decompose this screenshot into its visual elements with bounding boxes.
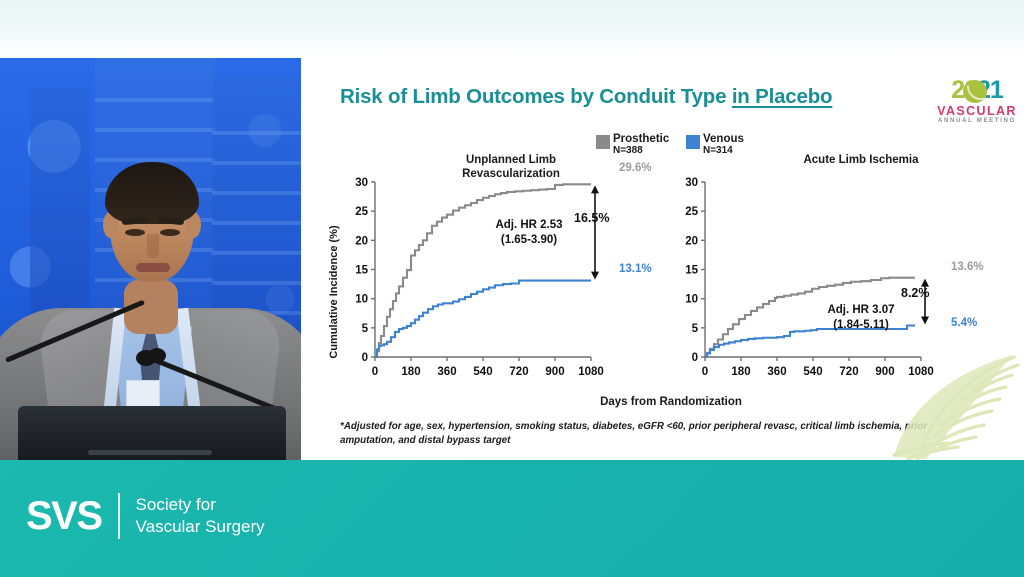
svg-text:180: 180 [401, 366, 420, 378]
km-chart-unplanned-limb-revascularization: 05101520253001803605407209001080 [343, 176, 605, 391]
slide-title: Risk of Limb Outcomes by Conduit Type in… [340, 85, 930, 109]
svg-text:0: 0 [702, 366, 708, 378]
x-axis-label: Days from Randomization [541, 396, 801, 408]
top-background-band [0, 0, 1024, 58]
svg-text:0: 0 [372, 366, 378, 378]
svg-text:540: 540 [803, 366, 822, 378]
svg-text:720: 720 [509, 366, 528, 378]
microphone-head-right [148, 348, 166, 363]
slide-footnote: *Adjusted for age, sex, hypertension, sm… [340, 420, 940, 448]
km-curve-prosthetic [375, 184, 591, 357]
speaker-nose [147, 234, 159, 258]
svs-society-name: Society for Vascular Surgery [136, 494, 265, 538]
km-plot-svg: 05101520253001803605407209001080 [673, 176, 935, 391]
slide-title-main: Risk of Limb Outcomes by Conduit Type [340, 85, 732, 108]
svg-text:15: 15 [355, 265, 368, 277]
legend-swatch-venous [686, 135, 700, 149]
hr-value-left: Adj. HR 2.53 [469, 218, 589, 233]
svg-text:540: 540 [473, 366, 492, 378]
speaker-eye-left [125, 229, 145, 236]
svg-text:360: 360 [437, 366, 456, 378]
hr-ci-right: (1.84-5.11) [801, 318, 921, 333]
svs-wordmark: SVS [26, 496, 102, 536]
svg-text:720: 720 [839, 366, 858, 378]
difference-label-right: 8.2% [901, 286, 930, 300]
speaker-video-panel[interactable] [0, 58, 301, 460]
svs-society-line2: Vascular Surgery [136, 517, 265, 536]
svg-text:900: 900 [545, 366, 564, 378]
km-curve-venous [375, 281, 591, 357]
svg-text:0: 0 [692, 352, 698, 364]
legend-n-prosthetic: N=388 [613, 145, 643, 156]
vam-logo-annual-meeting: ANNUAL MEETING [931, 118, 1023, 124]
endpoint-label-right-venous: 5.4% [951, 317, 977, 329]
speaker-figure [0, 58, 301, 460]
speaker-hair [105, 162, 199, 224]
presentation-slide: Risk of Limb Outcomes by Conduit Type in… [301, 58, 1024, 460]
podium-monitor-stand [88, 450, 212, 455]
difference-label-left: 16.5% [574, 211, 609, 225]
endpoint-label-left-venous: 13.1% [619, 263, 652, 275]
svg-text:1080: 1080 [578, 366, 604, 378]
svg-text:180: 180 [731, 366, 750, 378]
chart-title-right: Acute Limb Ischemia [771, 153, 951, 167]
svg-text:10: 10 [685, 294, 698, 306]
endpoint-label-left-prosthetic: 29.6% [619, 162, 652, 174]
km-chart-acute-limb-ischemia: 05101520253001803605407209001080 [673, 176, 935, 391]
svg-text:25: 25 [355, 206, 368, 218]
vam-logo-vascular: VASCULAR [931, 104, 1023, 118]
slide-title-emphasis: in Placebo [732, 85, 833, 108]
endpoint-label-right-prosthetic: 13.6% [951, 261, 984, 273]
svg-text:30: 30 [685, 177, 698, 189]
svs-logo-divider [118, 493, 120, 539]
svg-text:5: 5 [692, 323, 699, 335]
svs-society-line1: Society for [136, 495, 216, 514]
svg-text:10: 10 [355, 294, 368, 306]
km-plot-svg: 05101520253001803605407209001080 [343, 176, 605, 391]
leaf-icon [963, 80, 987, 103]
legend-n-venous: N=314 [703, 145, 733, 156]
svg-text:900: 900 [875, 366, 894, 378]
svs-logo: SVS Society for Vascular Surgery [26, 493, 265, 539]
svs-footer-bar: SVS Society for Vascular Surgery [0, 460, 1024, 577]
svg-text:20: 20 [685, 235, 698, 247]
hr-ci-left: (1.65-3.90) [469, 233, 589, 248]
slide-stage: Risk of Limb Outcomes by Conduit Type in… [0, 0, 1024, 577]
svg-text:360: 360 [767, 366, 786, 378]
y-axis-label: Cumulative Incidence (%) [328, 207, 340, 377]
legend-label-prosthetic: Prosthetic [613, 133, 669, 145]
vam-2021-logo: 2021 VASCULAR ANNUAL MEETING [931, 78, 1023, 130]
speaker-eye-right [160, 229, 180, 236]
speaker-mouth [136, 263, 170, 272]
legend-swatch-prosthetic [596, 135, 610, 149]
legend-label-venous: Venous [703, 133, 744, 145]
svg-text:0: 0 [362, 352, 368, 364]
hr-value-right: Adj. HR 3.07 [801, 303, 921, 318]
svg-text:30: 30 [355, 177, 368, 189]
svg-text:5: 5 [362, 323, 369, 335]
svg-text:15: 15 [685, 265, 698, 277]
hr-annotation-right: Adj. HR 3.07 (1.84-5.11) [801, 303, 921, 333]
hr-annotation-left: Adj. HR 2.53 (1.65-3.90) [469, 218, 589, 248]
svg-text:25: 25 [685, 206, 698, 218]
svg-text:20: 20 [355, 235, 368, 247]
svg-text:1080: 1080 [908, 366, 934, 378]
